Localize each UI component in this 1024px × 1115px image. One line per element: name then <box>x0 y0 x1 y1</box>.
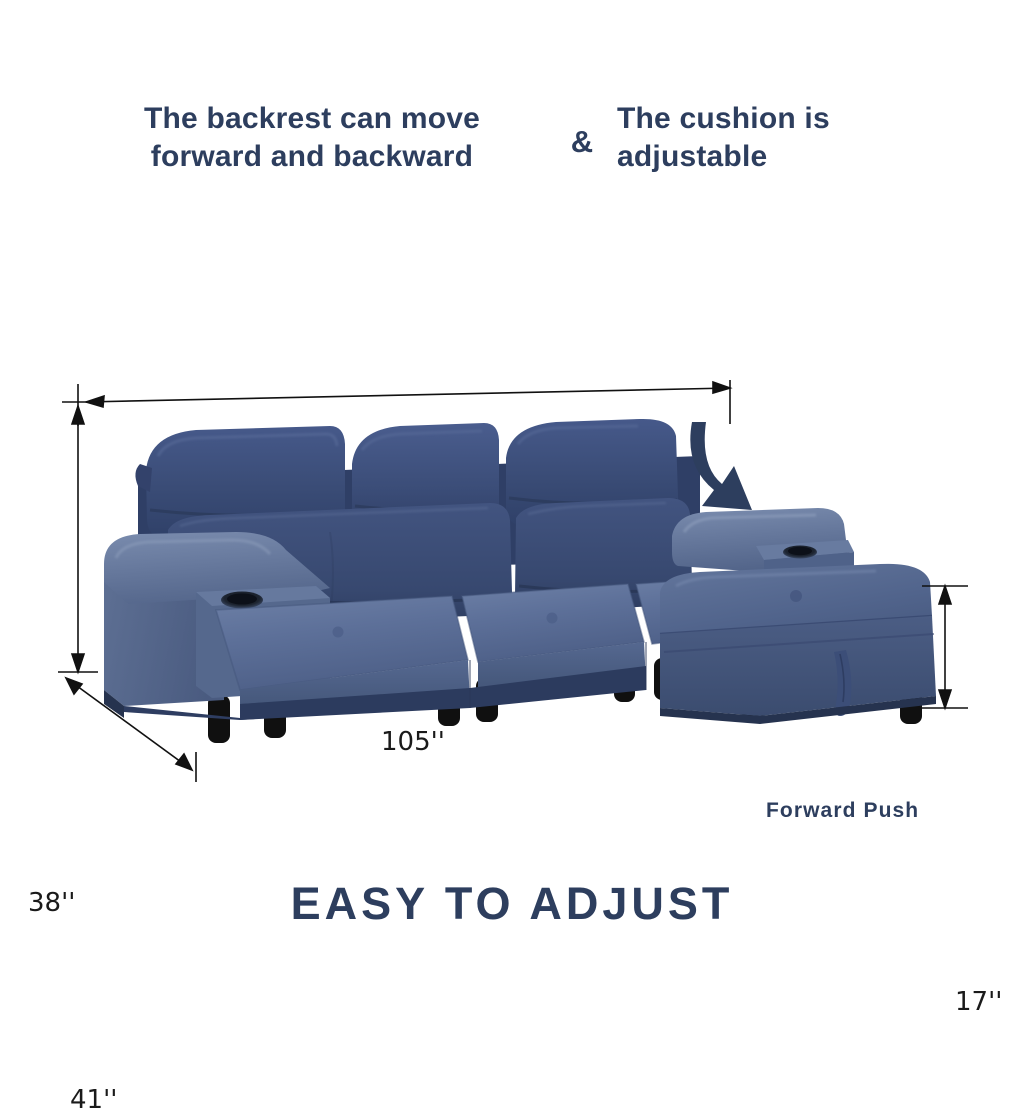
dimension-label-depth: 41'' <box>70 1085 117 1115</box>
product-scene: 105'' 38'' 41'' 17'' Forward Push <box>0 360 1024 820</box>
ottoman-tuft-button <box>790 590 802 602</box>
dimension-height-38 <box>58 406 98 672</box>
storage-ottoman <box>660 564 936 724</box>
headline-right-line2: adjustable <box>617 138 947 176</box>
headline-right-line1: The cushion is <box>617 100 947 138</box>
headline-right: The cushion is adjustable <box>617 100 947 177</box>
dimension-label-seat-height: 17'' <box>955 987 1002 1017</box>
headline-left-line1: The backrest can move <box>77 100 547 138</box>
headline-left: The backrest can move forward and backwa… <box>77 100 547 177</box>
headline-left-line2: forward and backward <box>77 138 547 176</box>
headline-conjunction: & <box>547 100 617 162</box>
sofa-illustration <box>0 360 1024 820</box>
forward-push-label: Forward Push <box>766 799 919 823</box>
headline-row: The backrest can move forward and backwa… <box>0 100 1024 192</box>
dimension-label-width: 105'' <box>381 727 445 757</box>
dimension-width-105 <box>62 380 730 426</box>
footer-title: EASY TO ADJUST <box>0 878 1024 930</box>
infographic-canvas: The backrest can move forward and backwa… <box>0 0 1024 1024</box>
